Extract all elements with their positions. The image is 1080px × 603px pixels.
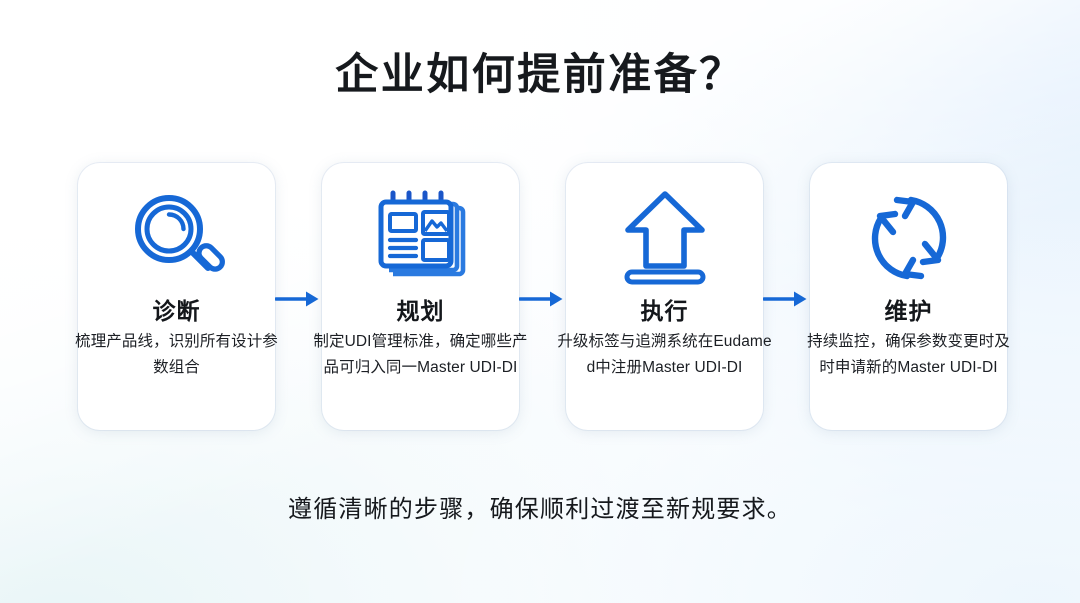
connector-3 — [763, 163, 810, 430]
footer-note: 遵循清晰的步骤，确保顺利过渡至新规要求。 — [0, 489, 1080, 524]
page-title: 企业如何提前准备？ — [0, 52, 1080, 99]
arrow-right-icon — [275, 290, 322, 308]
step-description: 梳理产品线，识别所有设计参数组合 — [69, 329, 284, 379]
step-title: 诊断 — [153, 298, 201, 324]
slide-canvas: 企业如何提前准备？ 诊断 梳理产品线，识别所有设计参数组合 — [0, 0, 1080, 603]
steps-row: 诊断 梳理产品线，识别所有设计参数组合 — [78, 163, 1006, 430]
step-title: 执行 — [641, 298, 689, 324]
refresh-cycle-icon — [854, 185, 964, 290]
step-card-plan[interactable]: 规划 制定UDI管理标准，确定哪些产品可归入同一Master UDI-DI — [322, 163, 519, 430]
notebook-icon — [366, 185, 476, 290]
connector-2 — [519, 163, 566, 430]
step-title: 维护 — [885, 298, 933, 324]
connector-1 — [275, 163, 322, 430]
upload-arrow-icon — [610, 185, 720, 290]
step-card-execute[interactable]: 执行 升级标签与追溯系统在Eudamed中注册Master UDI-DI — [566, 163, 763, 430]
arrow-right-icon — [519, 290, 566, 308]
step-description: 持续监控，确保参数变更时及时申请新的Master UDI-DI — [801, 329, 1016, 379]
magnifier-icon — [122, 185, 232, 290]
arrow-right-icon — [763, 290, 810, 308]
step-title: 规划 — [397, 298, 445, 324]
step-card-diagnose[interactable]: 诊断 梳理产品线，识别所有设计参数组合 — [78, 163, 275, 430]
step-description: 制定UDI管理标准，确定哪些产品可归入同一Master UDI-DI — [313, 329, 528, 379]
step-card-maintain[interactable]: 维护 持续监控，确保参数变更时及时申请新的Master UDI-DI — [810, 163, 1007, 430]
step-description: 升级标签与追溯系统在Eudamed中注册Master UDI-DI — [557, 329, 772, 379]
